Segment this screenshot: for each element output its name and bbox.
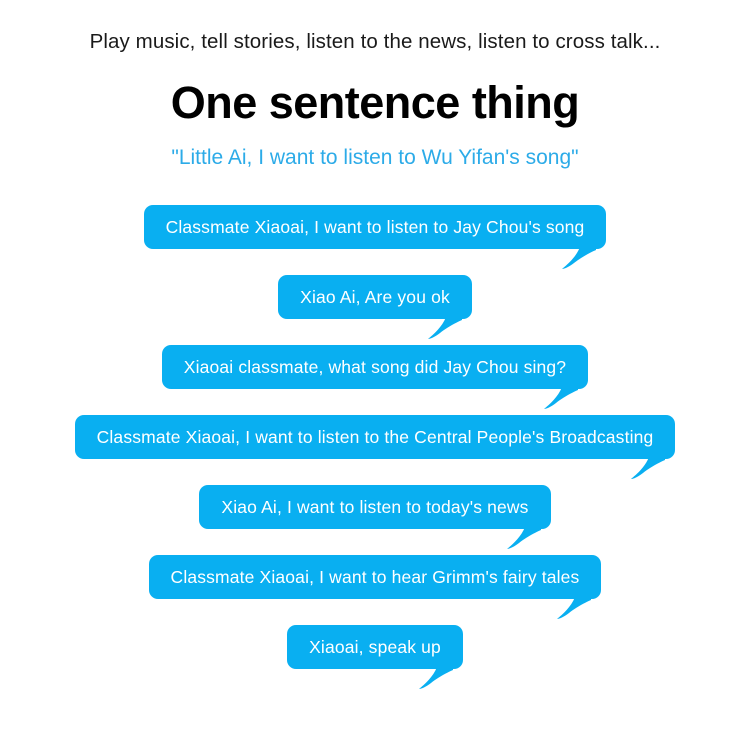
speech-bubble: Xiao Ai, I want to listen to today's new…: [199, 485, 550, 529]
promo-page: Play music, tell stories, listen to the …: [0, 0, 750, 750]
page-header: Play music, tell stories, listen to the …: [0, 0, 750, 171]
speech-bubble-tail-icon: [544, 387, 578, 409]
speech-bubble-text: Classmate Xiaoai, I want to listen to Ja…: [166, 217, 585, 237]
tagline-text: Play music, tell stories, listen to the …: [0, 0, 750, 55]
speech-bubble-text: Xiaoai classmate, what song did Jay Chou…: [184, 357, 566, 377]
speech-bubble-tail-icon: [419, 667, 453, 689]
speech-bubble-tail-icon: [428, 317, 462, 339]
speech-bubble: Classmate Xiaoai, I want to listen to Ja…: [144, 205, 607, 249]
list-item: Classmate Xiaoai, I want to listen to Ja…: [0, 205, 750, 275]
speech-bubble-tail-icon: [507, 527, 541, 549]
list-item: Classmate Xiaoai, I want to listen to th…: [0, 415, 750, 485]
speech-bubble-text: Xiaoai, speak up: [309, 637, 441, 657]
speech-bubble: Classmate Xiaoai, I want to listen to th…: [75, 415, 676, 459]
speech-bubble-tail-icon: [631, 457, 665, 479]
speech-bubble: Xiao Ai, Are you ok: [278, 275, 472, 319]
speech-bubble-text: Classmate Xiaoai, I want to hear Grimm's…: [171, 567, 580, 587]
list-item: Xiaoai, speak up: [0, 625, 750, 695]
speech-bubble-tail-icon: [562, 247, 596, 269]
list-item: Xiaoai classmate, what song did Jay Chou…: [0, 345, 750, 415]
voice-command-list: Classmate Xiaoai, I want to listen to Ja…: [0, 205, 750, 695]
page-title: One sentence thing: [0, 55, 750, 129]
list-item: Classmate Xiaoai, I want to hear Grimm's…: [0, 555, 750, 625]
page-subtitle: "Little Ai, I want to listen to Wu Yifan…: [0, 128, 750, 170]
speech-bubble-text: Xiao Ai, Are you ok: [300, 287, 450, 307]
speech-bubble: Xiaoai, speak up: [287, 625, 463, 669]
speech-bubble-tail-icon: [557, 597, 591, 619]
speech-bubble: Classmate Xiaoai, I want to hear Grimm's…: [149, 555, 602, 599]
speech-bubble-text: Xiao Ai, I want to listen to today's new…: [221, 497, 528, 517]
speech-bubble: Xiaoai classmate, what song did Jay Chou…: [162, 345, 588, 389]
list-item: Xiao Ai, I want to listen to today's new…: [0, 485, 750, 555]
list-item: Xiao Ai, Are you ok: [0, 275, 750, 345]
speech-bubble-text: Classmate Xiaoai, I want to listen to th…: [97, 427, 654, 447]
